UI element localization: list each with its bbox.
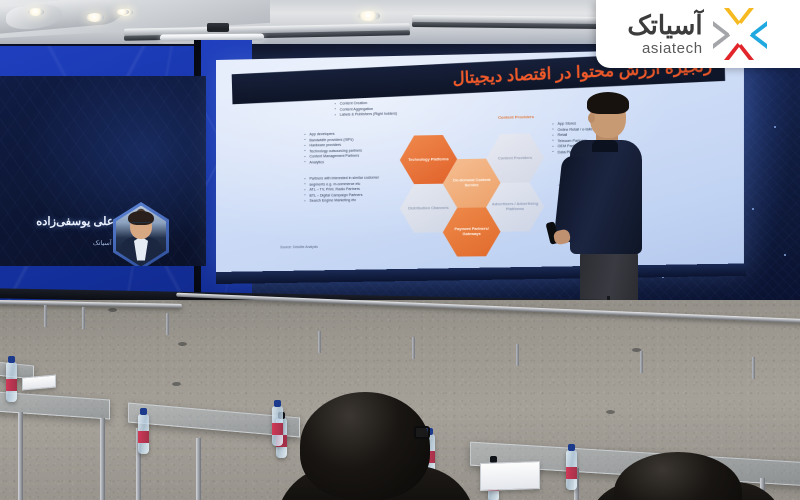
presenter-ear (588, 113, 595, 123)
downlight-4 (116, 9, 129, 15)
table-leg (18, 412, 23, 500)
asiatech-x-mark-icon (711, 5, 769, 63)
presenter-hair (587, 92, 629, 114)
chevron-right-cut (755, 26, 767, 44)
table-leg (196, 438, 201, 500)
bottle-cap (274, 400, 281, 407)
bullet-list-marketing-partners: Partners with interested in similar cust… (304, 176, 379, 205)
list-item: Labels & Publishers (Right holders) (335, 112, 397, 119)
ceiling-duct-inner (6, 2, 62, 31)
presenter-collar (592, 140, 618, 152)
downlight-2 (86, 13, 104, 22)
rail-post (412, 337, 415, 359)
name-card-center (480, 461, 540, 491)
brand-name-en: asiatech (642, 41, 703, 56)
bottle-label (6, 379, 17, 391)
presenter-person (556, 96, 676, 326)
water-bottle (566, 450, 577, 490)
asiatech-watermark-logo: آسیاتک asiatech (596, 0, 800, 68)
chevron-down-cut (729, 47, 749, 60)
bullet-list-content-creation: Content Creation Content Aggregation Lab… (335, 100, 397, 118)
list-item: Search Engine Marketing etc (304, 198, 379, 205)
audience-head-1 (300, 392, 430, 500)
source-note: Source: Deloitte Analysis (280, 245, 318, 249)
floor-marker (606, 410, 615, 414)
rail-post (82, 307, 85, 329)
bottle-cap (140, 408, 147, 415)
ceiling-mount-box (207, 23, 229, 32)
bottle-cap (8, 356, 15, 363)
downlight-1 (28, 8, 44, 16)
table-leg (100, 418, 105, 500)
bullet-list-technology-platforms: App developers Bandwidth providers (ISPs… (304, 131, 362, 166)
chevron-left-cut (713, 26, 725, 44)
rail-post (318, 331, 321, 353)
hex-label-content-providers: Content Providers (486, 114, 546, 120)
hexagon-diagram: Content Providers Distribution Channels … (396, 112, 551, 244)
list-item: Analytics (304, 159, 362, 166)
bottle-label (138, 431, 149, 443)
chevron-up-cut (729, 8, 749, 21)
left-display-speaker-card: محمدعلی یوسفی‌زاده مدیرعامل آسیاتک (0, 76, 206, 266)
floor-marker (172, 382, 181, 386)
bottle-label (566, 467, 577, 479)
led-spark (784, 254, 786, 256)
rail-post (44, 305, 47, 327)
rail-post (752, 357, 755, 379)
rail-post (640, 351, 643, 373)
conference-photo-scene: محمدعلی یوسفی‌زاده مدیرعامل آسیاتک زنجیر… (0, 0, 800, 500)
water-bottle (272, 406, 283, 446)
avatar-glasses-icon (132, 222, 150, 226)
water-bottle (138, 414, 149, 454)
watermark-text: آسیاتک asiatech (627, 12, 702, 56)
bottle-label (272, 423, 283, 435)
floor-marker (108, 308, 117, 312)
brand-name-fa: آسیاتک (627, 12, 702, 38)
led-spark (774, 126, 776, 128)
audience-glasses-icon (414, 426, 430, 439)
water-bottle (6, 362, 17, 402)
rail-post (516, 344, 519, 366)
rail-post (166, 313, 169, 335)
presenter-hand (553, 228, 572, 245)
led-spark (752, 208, 754, 210)
bottle-cap (568, 444, 575, 451)
downlight-5 (358, 11, 380, 21)
floor-marker (178, 342, 187, 346)
